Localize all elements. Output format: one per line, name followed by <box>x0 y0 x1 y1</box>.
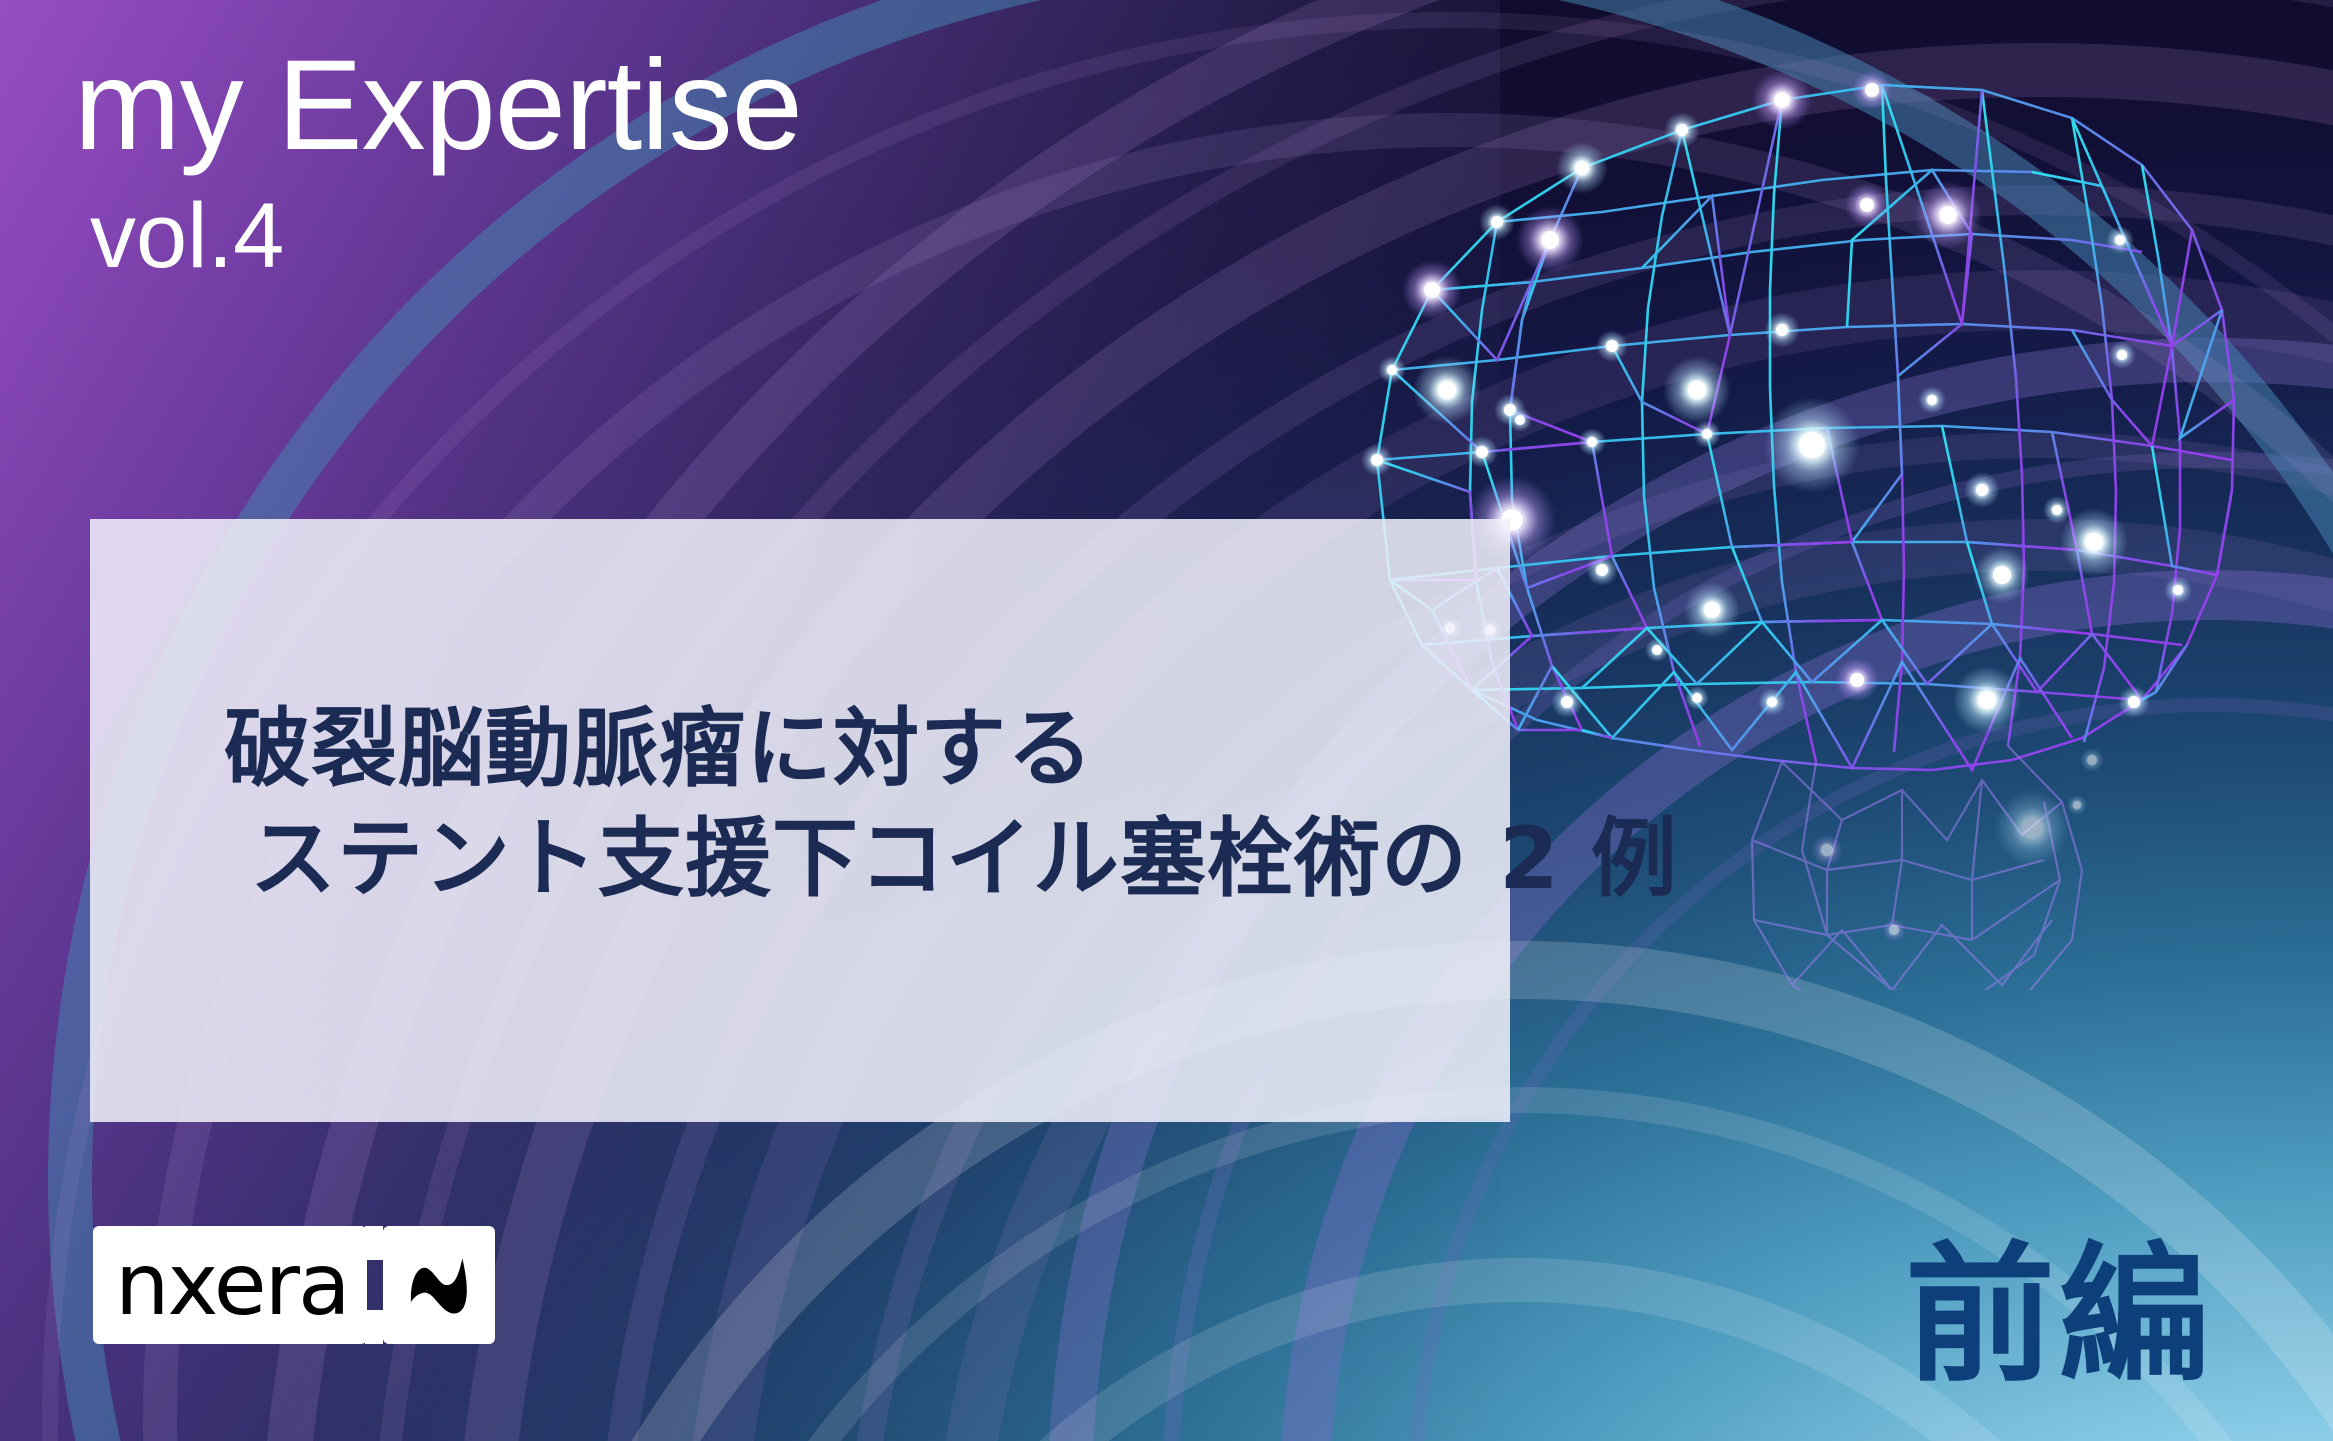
headline-line-2: ステント支援下コイル塞栓術の 2 例 <box>250 804 1494 914</box>
logo-notch <box>367 1226 381 1344</box>
nxera-logo[interactable]: nxera <box>93 1226 495 1344</box>
wave-mark-icon <box>383 1226 495 1344</box>
wave-mark-glyph <box>400 1246 478 1324</box>
logo-wordmark-text: nxera <box>115 1242 349 1328</box>
headline-text: 破裂脳動脈瘤に対する ステント支援下コイル塞栓術の 2 例 <box>224 694 1494 914</box>
page-title: my Expertise <box>74 42 1374 170</box>
volume-label: vol.4 <box>90 190 1374 282</box>
headline-panel: 破裂脳動脈瘤に対する ステント支援下コイル塞栓術の 2 例 <box>90 519 1510 1122</box>
poster-canvas: my Expertise vol.4 破裂脳動脈瘤に対する ステント支援下コイル… <box>0 0 2333 1441</box>
part-badge: 前編 <box>1905 1241 2213 1391</box>
headline-line-1: 破裂脳動脈瘤に対する <box>224 694 1494 804</box>
logo-wordmark-box: nxera <box>93 1226 367 1344</box>
title-block: my Expertise vol.4 <box>74 42 1374 282</box>
